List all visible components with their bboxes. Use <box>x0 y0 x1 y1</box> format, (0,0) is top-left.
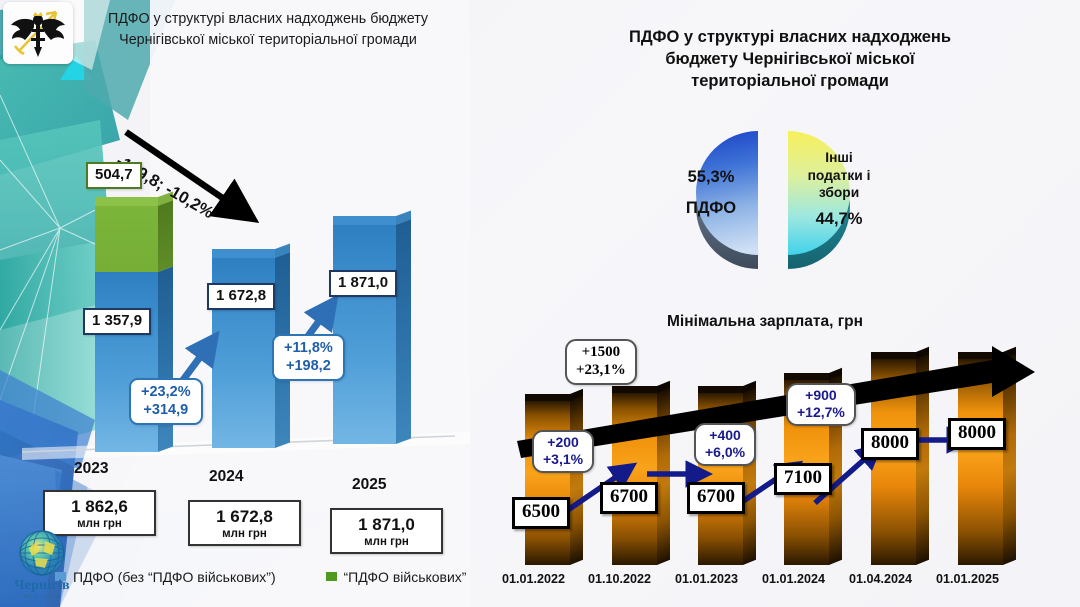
growth-callout-2025: +11,8% +198,2 <box>272 334 345 381</box>
eagle-icon <box>6 5 70 61</box>
left-chart-title: ПДФО у структурі власних надходжень бюдж… <box>88 9 448 50</box>
wage-date-2024-01: 01.01.2024 <box>762 572 825 586</box>
left-chart-legend: ПДФО (без “ПДФО військових”) “ПДФО війсь… <box>55 568 512 585</box>
total-2023-value: 1 862,6 <box>55 497 144 517</box>
legend-swatch-green <box>326 572 337 581</box>
wage-callout-total-abs: +1500 <box>576 343 626 361</box>
legend-item-pdfo-civil: ПДФО (без “ПДФО військових”) <box>55 569 276 585</box>
wage-date-2022-10: 01.10.2022 <box>588 572 651 586</box>
total-box-2025: 1 871,0 млн грн <box>330 508 443 554</box>
pie-label-other-line3: збори <box>796 184 882 202</box>
wage-callout-total: +1500 +23,1% <box>565 339 637 385</box>
growth-callout-2024-abs: +314,9 <box>141 401 191 419</box>
pie-label-other-line1: Інші <box>796 149 882 167</box>
wage-callout-2024-04-abs: +900 <box>797 387 845 404</box>
legend-item-pdfo-military: “ПДФО військових” <box>326 569 467 585</box>
pie-title-line-1: ПДФО у структурі власних надходжень <box>575 27 1005 49</box>
minimum-wage-chart: 6500 6700 6700 7100 8000 8000 +200 +3,1%… <box>495 335 1080 607</box>
pie-label-other: Інші податки і збори 44,7% <box>796 149 882 230</box>
total-2025-unit: млн грн <box>342 536 431 548</box>
wage-value-2022-10: 6700 <box>600 482 658 514</box>
value-label-civil-2023: 1 357,9 <box>83 308 151 335</box>
city-logo-name: Чернігів <box>4 578 80 594</box>
slide-canvas: ПДФО у структурі власних надходжень бюдж… <box>0 0 1080 607</box>
pie-title-line-2: бюджету Чернігівської міської <box>575 49 1005 71</box>
growth-callout-2025-abs: +198,2 <box>284 357 333 375</box>
wage-value-2023-01: 6700 <box>687 482 745 514</box>
pie-label-pdfo-name: ПДФО <box>666 193 756 224</box>
total-2024-value: 1 672,8 <box>200 507 289 527</box>
wage-callout-2022-10: +200 +3,1% <box>532 430 594 473</box>
wage-callout-2022-10-abs: +200 <box>543 434 583 451</box>
total-2024-unit: млн грн <box>200 528 289 540</box>
growth-callout-2025-pct: +11,8% <box>284 339 333 357</box>
growth-callout-2024-pct: +23,2% <box>141 383 191 401</box>
pdfo-structure-column-chart: -189,8; -10,2% 504,7 1 357,9 1 672,8 1 8… <box>0 100 470 490</box>
value-label-2024: 1 672,8 <box>207 283 275 310</box>
wage-callout-2024-01-abs: +400 <box>705 427 745 444</box>
chernihiv-city-logo: Чернігів місто легенд <box>4 528 80 600</box>
wage-callout-2024-04: +900 +12,7% <box>786 383 856 426</box>
pie-label-other-line2: податки і <box>796 167 882 185</box>
pie-title-line-3: територіальної громади <box>575 71 1005 93</box>
year-label-2024: 2024 <box>209 468 243 486</box>
wage-date-2023-01: 01.01.2023 <box>675 572 738 586</box>
pie-label-pdfo-pct: 55,3% <box>666 162 756 193</box>
pdfo-share-pie-chart: 55,3% ПДФО Інші податки і збори 44,7% <box>630 105 930 290</box>
wage-callout-2024-01-pct: +6,0% <box>705 444 745 461</box>
left-title-line-1: ПДФО у структурі власних надходжень бюдж… <box>88 9 448 30</box>
wage-value-2025-01: 8000 <box>948 418 1006 450</box>
globe-icon <box>15 528 69 578</box>
wage-value-2022-01: 6500 <box>512 497 570 529</box>
pie-chart-title: ПДФО у структурі власних надходжень бюдж… <box>575 27 1005 93</box>
chernihiv-coat-of-arms-emblem <box>3 2 73 64</box>
wage-callout-2024-04-pct: +12,7% <box>797 404 845 421</box>
wage-callout-total-pct: +23,1% <box>576 361 626 379</box>
value-label-military-2023: 504,7 <box>86 162 142 189</box>
wage-value-2024-01: 7100 <box>774 463 832 495</box>
total-box-2024: 1 672,8 млн грн <box>188 500 301 546</box>
value-label-2025: 1 871,0 <box>329 270 397 297</box>
legend-label-pdfo-civil: ПДФО (без “ПДФО військових”) <box>73 569 276 585</box>
wage-date-2025-01: 01.01.2025 <box>936 572 999 586</box>
wage-value-2024-04: 8000 <box>861 428 919 460</box>
total-2025-value: 1 871,0 <box>342 515 431 535</box>
legend-label-pdfo-military: “ПДФО військових” <box>344 569 467 585</box>
year-label-2023: 2023 <box>74 460 108 478</box>
pie-label-other-pct: 44,7% <box>796 209 882 230</box>
growth-callout-2024: +23,2% +314,9 <box>129 378 203 425</box>
wage-callout-2024-01: +400 +6,0% <box>694 423 756 466</box>
wage-chart-title: Мінімальна зарплата, грн <box>600 313 930 331</box>
pie-label-pdfo: 55,3% ПДФО <box>666 162 756 223</box>
city-logo-tagline: місто легенд <box>4 594 80 600</box>
year-label-2025: 2025 <box>352 476 386 494</box>
wage-callout-2022-10-pct: +3,1% <box>543 451 583 468</box>
left-title-line-2: Чернігівської міської територіальної гро… <box>88 30 448 51</box>
wage-date-2024-04: 01.04.2024 <box>849 572 912 586</box>
wage-date-2022-01: 01.01.2022 <box>502 572 565 586</box>
